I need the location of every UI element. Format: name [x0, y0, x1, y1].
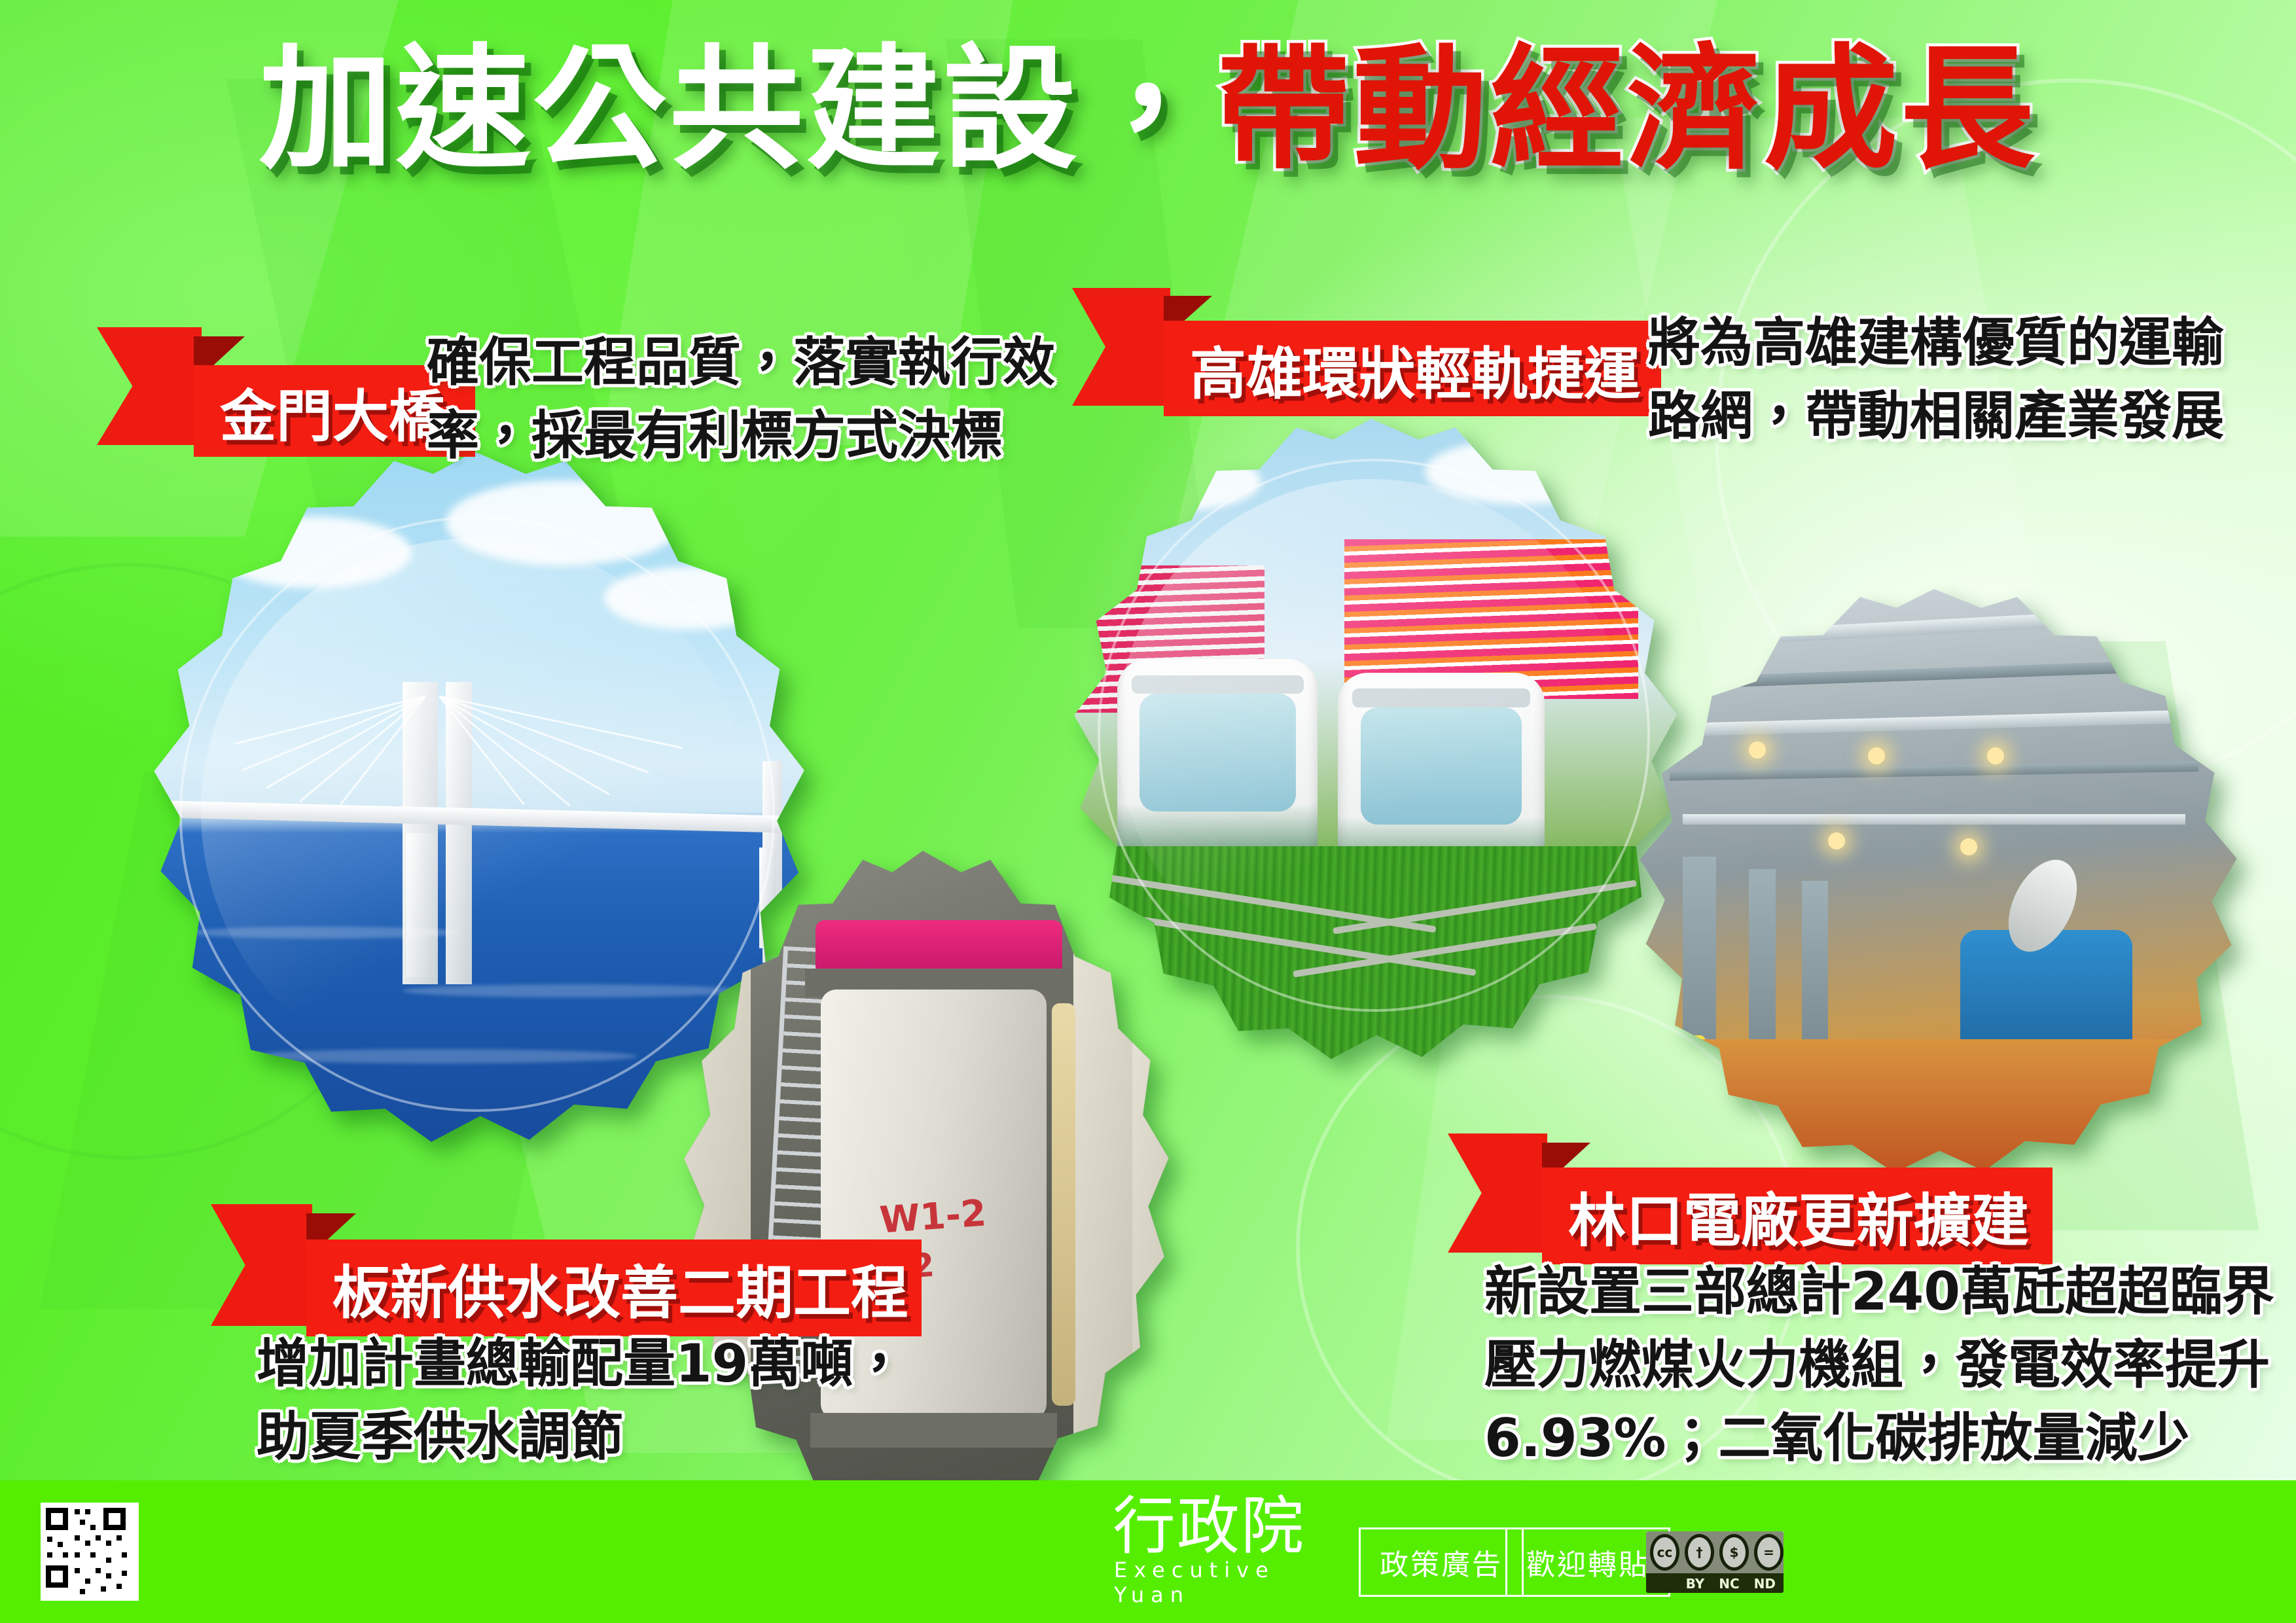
banner-label: 金門大橋 — [220, 370, 445, 452]
copy-bansin-water: 增加計畫總輸配量19萬噸， 助夏季供水調節 — [257, 1327, 905, 1474]
copy-kinmen-bridge: 確保工程品質，落實執行效 率，採最有利標方式決標 — [427, 326, 1055, 473]
gear-glass-sheen — [1117, 479, 1624, 986]
gear-photo-linkou-power — [1604, 589, 2265, 1198]
banner-label: 林口電廠更新擴建 — [1568, 1175, 2029, 1258]
banner-bansin-water[interactable]: 板新供水改善二期工程 — [211, 1204, 918, 1342]
copy-kaohsiung-lrt: 將為高雄建構優質的運輸 路網，帶動相關產業發展 — [1648, 306, 2224, 453]
worker-figure — [1689, 1046, 1704, 1082]
poster-canvas: 加速公共建設，帶動經濟成長 — [0, 0, 2296, 1623]
cc-by-label: BY — [1686, 1576, 1705, 1592]
cc-nc-label: NC — [1719, 1576, 1739, 1592]
policy-ad-box: 政策廣告 — [1359, 1527, 1524, 1597]
qr-code[interactable] — [41, 1503, 139, 1601]
page-title: 加速公共建設，帶動經濟成長 — [0, 41, 2296, 180]
banner-kaohsiung-lrt[interactable]: 高雄環狀輕軌捷運 — [1072, 288, 1661, 419]
banner-linkou-power[interactable]: 林口電廠更新擴建 — [1448, 1133, 2050, 1271]
cc-nd-label: ND — [1754, 1576, 1776, 1592]
executive-yuan-logo: 行政院 Executive Yuan — [1113, 1492, 1329, 1611]
cc-nd-icon: = — [1754, 1534, 1784, 1571]
org-name-en: Executive Yuan — [1114, 1558, 1329, 1607]
cc-nc-icon: $ — [1719, 1534, 1749, 1571]
banner-label: 板新供水改善二期工程 — [332, 1247, 908, 1330]
footer-bar: 行政院 Executive Yuan 政策廣告 歡迎轉貼 cc † $ = BY… — [0, 1480, 2296, 1623]
policy-ad-label: 政策廣告 — [1380, 1541, 1503, 1583]
cc-by-icon: † — [1685, 1534, 1714, 1571]
banner-label: 高雄環狀輕軌捷運 — [1190, 328, 1640, 410]
org-name-cn: 行政院 — [1113, 1495, 1329, 1558]
title-part-white: 加速公共建設， — [259, 41, 1217, 180]
banner-kinmen-bridge[interactable]: 金門大橋 — [97, 327, 476, 458]
cc-icon: cc — [1650, 1534, 1679, 1571]
repost-welcome-label: 歡迎轉貼 — [1526, 1541, 1649, 1583]
power-plant-photo — [1604, 589, 2265, 1198]
title-part-red: 帶動經濟成長 — [1217, 41, 2037, 180]
gear-cog-shape — [1604, 589, 2265, 1198]
cc-license-badge[interactable]: cc † $ = BY NC ND — [1646, 1531, 1784, 1593]
